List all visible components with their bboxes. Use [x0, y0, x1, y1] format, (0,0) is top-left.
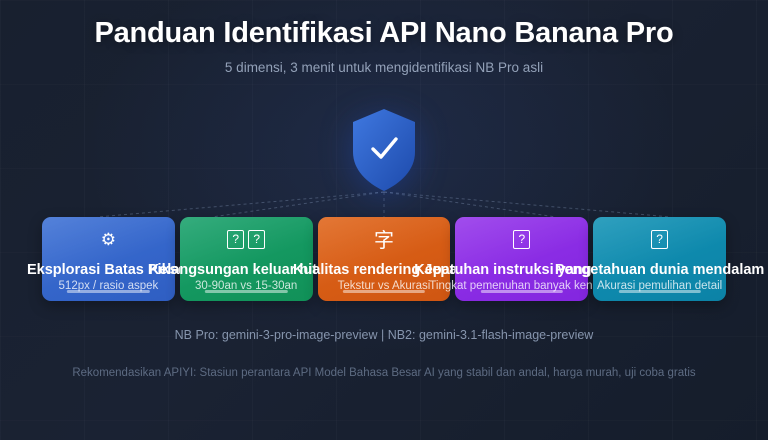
gear-icon: ⚙: [42, 229, 175, 251]
tofu-box: ?: [651, 230, 668, 249]
tofu-box: ?: [248, 230, 265, 249]
missing-glyph-double-icon: ??: [180, 229, 313, 251]
card-progress-bar: [343, 290, 425, 294]
card-progress-bar: [618, 290, 700, 294]
promo-line: Rekomendasikan APIYI: Stasiun perantara …: [0, 365, 768, 381]
infographic-stage: Panduan Identifikasi API Nano Banana Pro…: [0, 0, 768, 440]
card-progress-bar: [481, 290, 563, 294]
cjk-character-icon: 字: [318, 229, 451, 251]
card-progress-bar: [205, 290, 287, 294]
missing-glyph-icon: ?: [455, 229, 588, 251]
missing-glyph-icon: ?: [593, 229, 726, 251]
card-world-knowledge[interactable]: ? Pengetahuan dunia mendalam Akurasi pem…: [593, 217, 726, 301]
shield-check-icon: [351, 108, 417, 192]
tofu-box: ?: [227, 230, 244, 249]
dimension-cards: ⚙ Eksplorasi Batas Piksel 512px / rasio …: [42, 217, 726, 301]
model-names-line: NB Pro: gemini-3-pro-image-preview | NB2…: [0, 327, 768, 344]
tofu-box: ?: [513, 230, 530, 249]
card-title: Pengetahuan dunia mendalam: [533, 261, 768, 279]
card-progress-bar: [67, 290, 149, 294]
hero-shield: [351, 108, 417, 192]
